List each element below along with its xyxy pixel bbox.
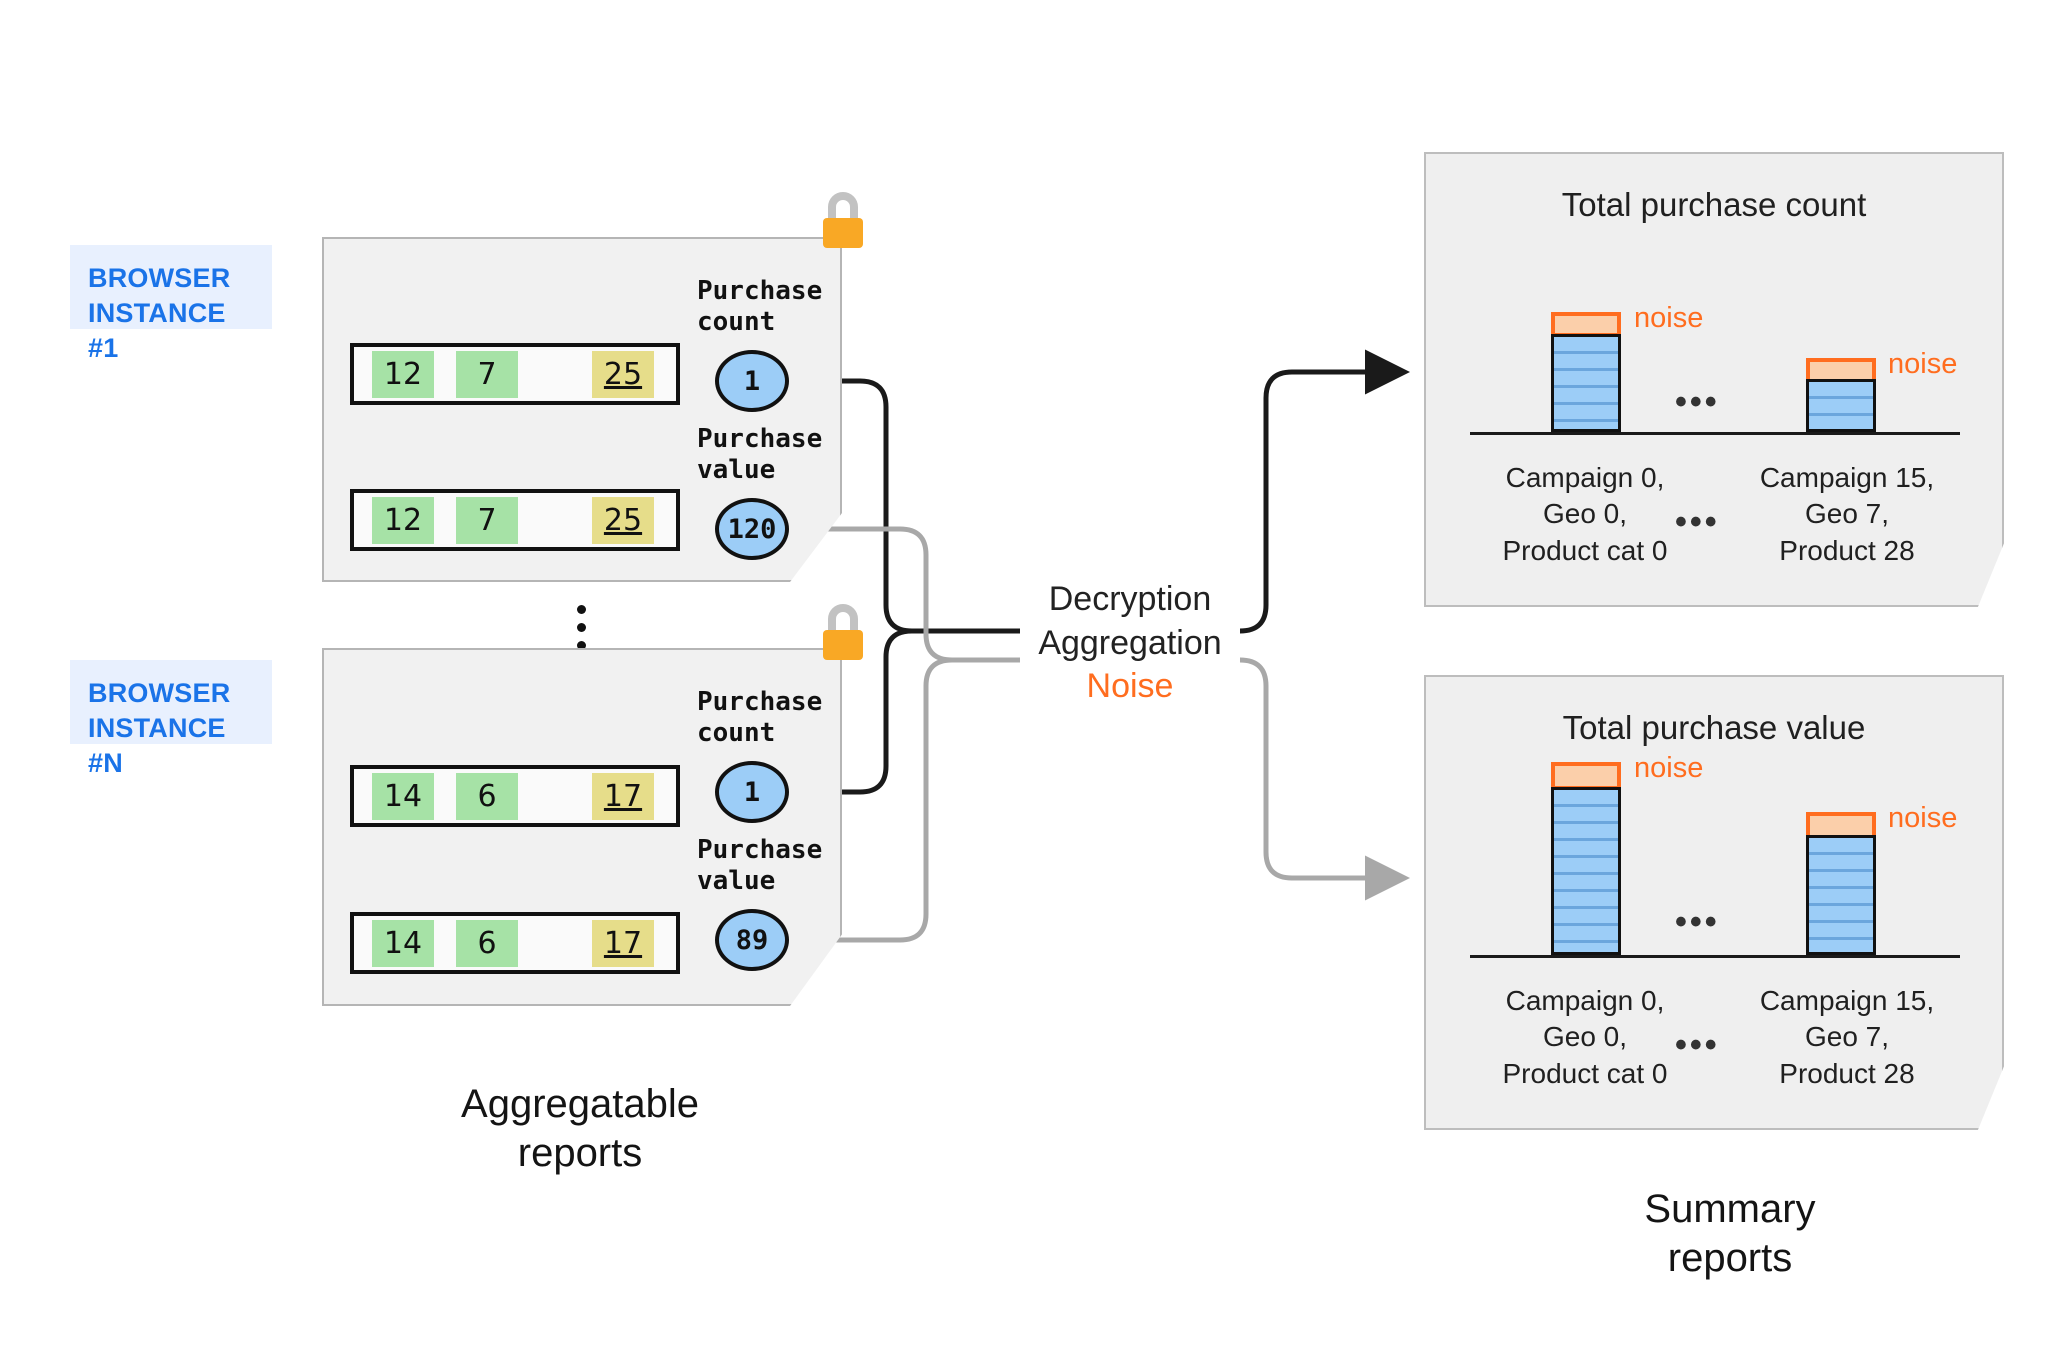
lock-icon	[820, 190, 866, 254]
noise-label-value-1: noise	[1888, 802, 1957, 835]
bar-body-value-0	[1551, 787, 1621, 955]
category-label-value-1: Campaign 15, Geo 7, Product 28	[1712, 983, 1982, 1092]
bar-group-value-1	[1806, 812, 1876, 955]
process-aggregation: Aggregation	[1010, 622, 1250, 666]
chart-axis-value	[1470, 955, 1960, 958]
diagram-canvas: BROWSER INSTANCE #1 12 7 25 12 7 25 Purc…	[0, 0, 2048, 1372]
purchase-count-value-1: 1	[715, 350, 789, 412]
caption-summary-reports: Summary reports	[1520, 1185, 1940, 1283]
key-chip-geo: 7	[456, 497, 518, 544]
horizontal-ellipsis-icon: •••	[1675, 505, 1720, 539]
key-chip-campaign: 12	[372, 351, 434, 398]
vertical-ellipsis-icon	[577, 605, 586, 650]
bar-body-count-0	[1551, 334, 1621, 432]
report-row: 12 7 25	[350, 343, 680, 405]
bar-group-count-0	[1551, 312, 1621, 432]
horizontal-ellipsis-icon: •••	[1675, 385, 1720, 419]
purchase-value-value-1: 120	[715, 498, 789, 560]
noise-label-count-1: noise	[1888, 348, 1957, 381]
bar-body-count-1	[1806, 379, 1876, 432]
purchase-value-label-n: Purchase value	[697, 835, 822, 897]
bar-group-count-1	[1806, 358, 1876, 432]
caption-aggregatable-reports: Aggregatable reports	[380, 1080, 780, 1178]
key-chip-geo: 6	[456, 920, 518, 967]
noise-label-count-0: noise	[1634, 302, 1703, 335]
key-chip-product: 25	[592, 351, 654, 398]
key-chip-product: 17	[592, 773, 654, 820]
report-row: 12 7 25	[350, 489, 680, 551]
horizontal-ellipsis-icon: •••	[1675, 905, 1720, 939]
key-chip-campaign: 14	[372, 920, 434, 967]
lock-icon	[820, 602, 866, 666]
key-chip-product: 25	[592, 497, 654, 544]
process-noise: Noise	[1010, 665, 1250, 709]
process-description: Decryption Aggregation Noise	[1010, 578, 1250, 709]
process-decryption: Decryption	[1010, 578, 1250, 622]
key-chip-geo: 7	[456, 351, 518, 398]
report-row: 14 6 17	[350, 765, 680, 827]
purchase-count-label-n: Purchase count	[697, 687, 822, 749]
browser-instance-tag-1: BROWSER INSTANCE #1	[70, 245, 272, 329]
key-chip-product: 17	[592, 920, 654, 967]
bar-noise-value-0	[1551, 762, 1621, 790]
browser-instance-tag-n: BROWSER INSTANCE #N	[70, 660, 272, 744]
summary-title-count: Total purchase count	[1424, 186, 2004, 224]
report-row: 14 6 17	[350, 912, 680, 974]
horizontal-ellipsis-icon: •••	[1675, 1028, 1720, 1062]
category-label-count-1: Campaign 15, Geo 7, Product 28	[1712, 460, 1982, 569]
purchase-value-value-n: 89	[715, 909, 789, 971]
purchase-count-value-n: 1	[715, 761, 789, 823]
key-chip-geo: 6	[456, 773, 518, 820]
summary-title-value: Total purchase value	[1424, 709, 2004, 747]
bar-group-value-0	[1551, 762, 1621, 955]
chart-axis-count	[1470, 432, 1960, 435]
key-chip-campaign: 12	[372, 497, 434, 544]
bar-body-value-1	[1806, 835, 1876, 955]
noise-label-value-0: noise	[1634, 752, 1703, 785]
key-chip-campaign: 14	[372, 773, 434, 820]
purchase-value-label-1: Purchase value	[697, 424, 822, 486]
purchase-count-label-1: Purchase count	[697, 276, 822, 338]
